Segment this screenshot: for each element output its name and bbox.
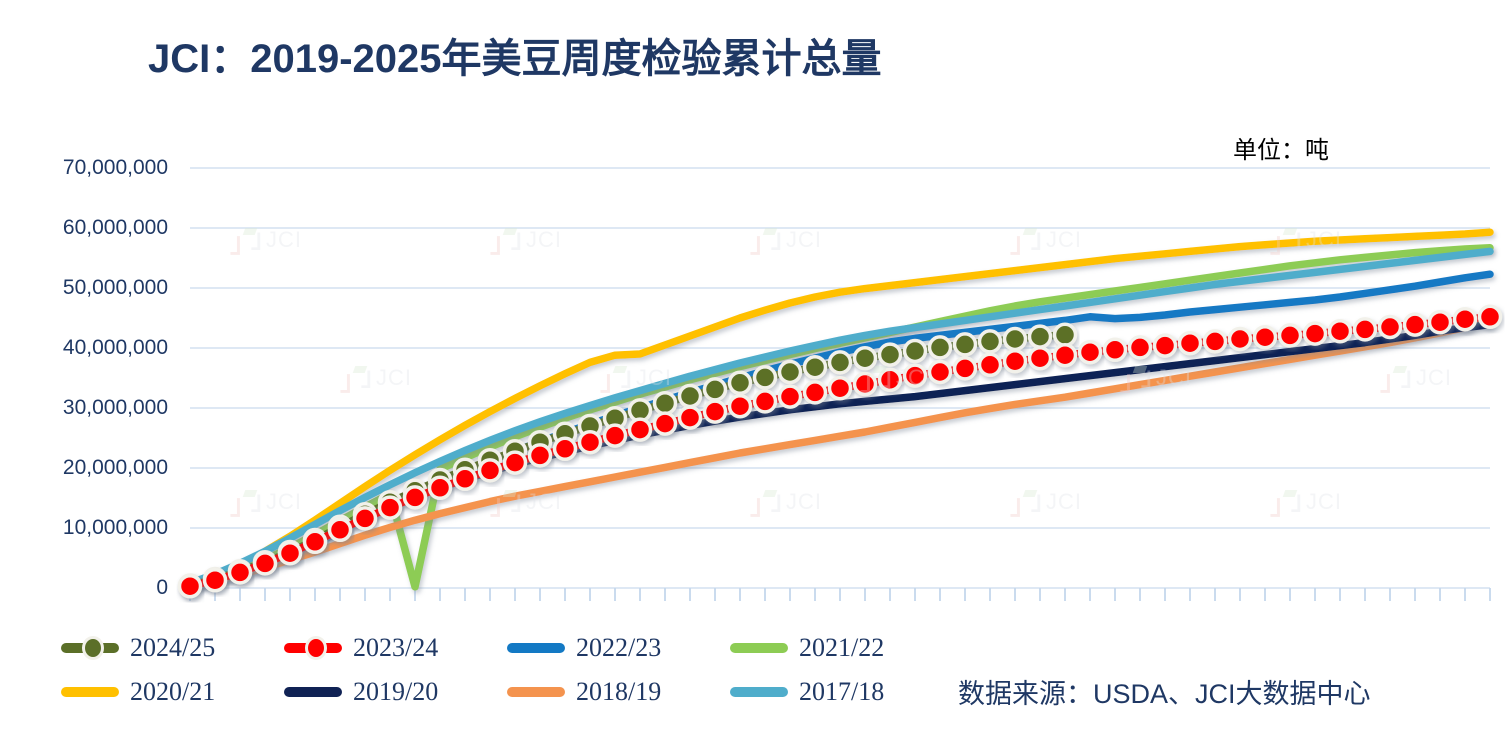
legend-swatch xyxy=(504,630,568,666)
legend-line xyxy=(507,687,565,697)
legend-marker-icon xyxy=(305,636,327,660)
legend-row: 2020/212019/202018/192017/18 xyxy=(58,674,988,710)
legend-item-2019-20[interactable]: 2019/20 xyxy=(281,674,504,710)
legend-label: 2017/18 xyxy=(799,677,884,707)
y-axis-tick-label: 10,000,000 xyxy=(63,516,168,540)
legend-line xyxy=(730,643,788,653)
legend-item-2024-25[interactable]: 2024/25 xyxy=(58,630,281,666)
source-note: 数据来源：USDA、JCI大数据中心 xyxy=(958,672,1371,711)
legend-item-2018-19[interactable]: 2018/19 xyxy=(504,674,727,710)
page-title: JCI：2019-2025年美豆周度检验累计总量 xyxy=(148,26,882,84)
legend-label: 2019/20 xyxy=(353,677,438,707)
legend-line xyxy=(730,687,788,697)
y-axis-tick-label: 60,000,000 xyxy=(63,216,168,240)
legend-swatch xyxy=(504,674,568,710)
legend-swatch xyxy=(727,630,791,666)
y-axis-tick-label: 0 xyxy=(156,576,168,600)
legend-item-2020-21[interactable]: 2020/21 xyxy=(58,674,281,710)
chart-legend: 2024/252023/242022/232021/222020/212019/… xyxy=(58,630,988,710)
legend-swatch xyxy=(58,630,122,666)
legend-marker-icon xyxy=(82,636,104,660)
y-axis-tick-label: 70,000,000 xyxy=(63,156,168,180)
plot-area: 」」JCI」」JCI」」JCI」」JCI」」JCI」」JCI」」JCI」」JCI… xyxy=(190,168,1490,588)
legend-label: 2023/24 xyxy=(353,633,438,663)
x-axis-ticks xyxy=(190,588,1490,601)
y-axis-tick-label: 30,000,000 xyxy=(63,396,168,420)
legend-item-2021-22[interactable]: 2021/22 xyxy=(727,630,950,666)
legend-swatch xyxy=(58,674,122,710)
legend-label: 2020/21 xyxy=(130,677,215,707)
legend-line xyxy=(61,687,119,697)
legend-item-2023-24[interactable]: 2023/24 xyxy=(281,630,504,666)
y-axis-tick-label: 40,000,000 xyxy=(63,336,168,360)
unit-label: 单位：吨 xyxy=(1233,130,1329,165)
legend-label: 2021/22 xyxy=(799,633,884,663)
legend-label: 2022/23 xyxy=(576,633,661,663)
y-axis: 010,000,00020,000,00030,000,00040,000,00… xyxy=(0,150,178,600)
legend-line xyxy=(507,643,565,653)
chart-root: JCI：2019-2025年美豆周度检验累计总量 单位：吨 010,000,00… xyxy=(0,0,1508,745)
legend-label: 2018/19 xyxy=(576,677,661,707)
legend-swatch xyxy=(727,674,791,710)
series-2022-23 xyxy=(190,274,1490,586)
legend-label: 2024/25 xyxy=(130,633,215,663)
legend-swatch xyxy=(281,630,345,666)
legend-item-2022-23[interactable]: 2022/23 xyxy=(504,630,727,666)
legend-item-2017-18[interactable]: 2017/18 xyxy=(727,674,950,710)
y-axis-tick-label: 20,000,000 xyxy=(63,456,168,480)
y-axis-tick-label: 50,000,000 xyxy=(63,276,168,300)
series-lines xyxy=(180,232,1501,597)
legend-row: 2024/252023/242022/232021/22 xyxy=(58,630,988,666)
legend-swatch xyxy=(281,674,345,710)
chart-plot xyxy=(190,168,1490,588)
legend-line xyxy=(284,687,342,697)
